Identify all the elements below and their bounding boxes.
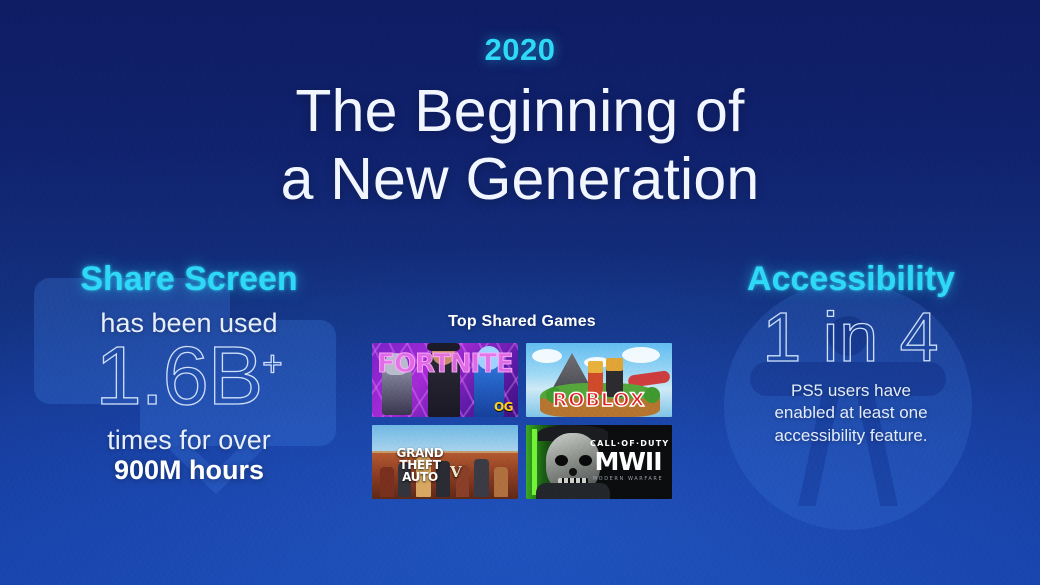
accessibility-stat: 1 in 4 [684, 302, 1018, 372]
gta-logo: GRAND THEFT AUTO [382, 447, 458, 483]
fortnite-logo: FORTNITE [372, 349, 518, 379]
cod-ghost-eye-left [555, 455, 568, 466]
game-tile-fortnite[interactable]: FORTNITE OG [372, 343, 518, 417]
slide-root: 2020 The Beginning of a New Generation S… [0, 0, 1040, 585]
roblox-character-1-head [588, 361, 603, 373]
share-screen-heading: Share Screen [22, 262, 356, 298]
share-screen-stat-value: 1.6B [95, 329, 262, 422]
gta-logo-line-3: AUTO [382, 471, 458, 483]
gta-character-6 [474, 459, 489, 497]
cod-ghost-nose [569, 468, 577, 476]
accessibility-note-line-3: accessibility feature. [684, 425, 1018, 448]
game-tile-roblox[interactable]: ROBLOX [526, 343, 672, 417]
accessibility-note-line-1: PS5 users have [684, 380, 1018, 403]
fortnite-og-badge: OG [494, 400, 513, 414]
page-title: The Beginning of a New Generation [0, 77, 1040, 214]
share-screen-panel: Share Screen has been used 1.6B+ times f… [22, 262, 356, 485]
top-shared-games-grid: FORTNITE OG ROBLOX [372, 343, 672, 499]
cod-logo-main: MWII [590, 449, 666, 474]
accessibility-panel: Accessibility 1 in 4 PS5 users have enab… [684, 262, 1018, 448]
page-title-line-2: a New Generation [0, 145, 1040, 213]
share-screen-times-text: times for over [22, 425, 356, 455]
game-tile-gta-v[interactable]: GRAND THEFT AUTO V [372, 425, 518, 499]
slide-header: 2020 The Beginning of a New Generation [0, 34, 1040, 214]
cod-logo: CALL·OF·DUTY MWII MODERN WARFARE [590, 439, 666, 482]
share-screen-hours-text: 900M hours [22, 455, 356, 485]
accessibility-note-line-2: enabled at least one [684, 402, 1018, 425]
gta-logo-numeral: V [450, 463, 462, 481]
share-screen-stat-suffix: + [262, 344, 282, 383]
cod-ghost-body [536, 483, 610, 499]
page-title-line-1: The Beginning of [0, 77, 1040, 145]
game-tile-call-of-duty-mwii[interactable]: CALL·OF·DUTY MWII MODERN WARFARE [526, 425, 672, 499]
share-screen-stat: 1.6B+ [22, 334, 356, 417]
cod-logo-subtitle: MODERN WARFARE [590, 476, 666, 482]
gta-character-7 [494, 467, 508, 497]
accessibility-heading: Accessibility [684, 262, 1018, 298]
roblox-cloud-2 [622, 347, 660, 363]
top-shared-games-title: Top Shared Games [372, 313, 672, 331]
year-label: 2020 [0, 34, 1040, 65]
accessibility-note: PS5 users have enabled at least one acce… [684, 380, 1018, 448]
roblox-character-2-head [606, 358, 623, 371]
cod-green-bar [532, 429, 537, 495]
top-shared-games-section: Top Shared Games FORTNITE OG [372, 313, 672, 499]
roblox-cloud-1 [532, 349, 562, 363]
roblox-logo: ROBLOX [526, 389, 672, 411]
